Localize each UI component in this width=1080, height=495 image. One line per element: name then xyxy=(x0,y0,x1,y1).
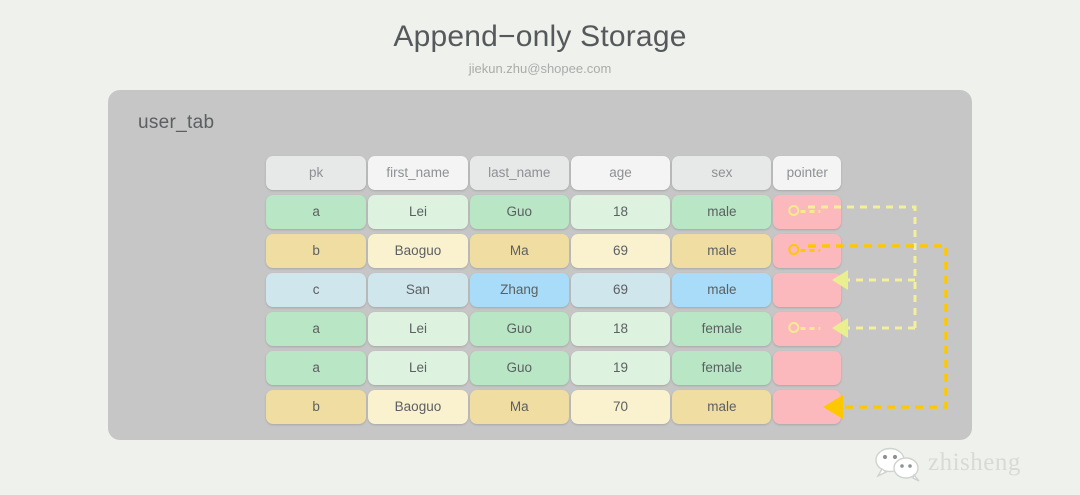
table-row[interactable]: a Lei Guo 18 female xyxy=(266,312,841,346)
cell-first-name: Lei xyxy=(368,312,467,346)
cell-sex: male xyxy=(672,195,771,229)
cell-age: 19 xyxy=(571,351,670,385)
table-header-row: pk first_name last_name age sex pointer xyxy=(266,156,841,190)
page-title: Append−only Storage xyxy=(0,20,1080,54)
cell-pointer[interactable] xyxy=(773,312,841,346)
cell-sex: male xyxy=(672,273,771,307)
cell-sex: female xyxy=(672,351,771,385)
column-header-last-name[interactable]: last_name xyxy=(470,156,569,190)
table-name-label: user_tab xyxy=(138,112,214,134)
cell-age: 69 xyxy=(571,273,670,307)
cell-first-name: Lei xyxy=(368,195,467,229)
cell-pk: a xyxy=(266,351,366,385)
cell-pointer[interactable] xyxy=(773,351,841,385)
cell-age: 70 xyxy=(571,390,670,424)
cell-pk: a xyxy=(266,195,366,229)
user-table: pk first_name last_name age sex pointer … xyxy=(266,156,841,429)
cell-sex: female xyxy=(672,312,771,346)
pointer-node-icon xyxy=(789,243,823,259)
cell-pointer[interactable] xyxy=(773,390,841,424)
cell-sex: male xyxy=(672,390,771,424)
table-row[interactable]: b Baoguo Ma 70 male xyxy=(266,390,841,424)
wechat-icon xyxy=(872,447,928,483)
column-header-first-name[interactable]: first_name xyxy=(368,156,467,190)
cell-last-name: Guo xyxy=(470,312,569,346)
cell-first-name: Lei xyxy=(368,351,467,385)
watermark-text: zhisheng xyxy=(928,449,1021,477)
pointer-node-icon xyxy=(789,204,823,220)
cell-pk: b xyxy=(266,390,366,424)
pointer-node-icon xyxy=(789,321,823,337)
cell-pointer[interactable] xyxy=(773,195,841,229)
cell-pk: a xyxy=(266,312,366,346)
column-header-pointer[interactable]: pointer xyxy=(773,156,841,190)
storage-panel: user_tab pk first_name last_name age sex… xyxy=(108,90,972,440)
cell-first-name: Baoguo xyxy=(368,390,467,424)
cell-pointer[interactable] xyxy=(773,273,841,307)
table-row[interactable]: a Lei Guo 19 female xyxy=(266,351,841,385)
cell-pk: c xyxy=(266,273,366,307)
column-header-age[interactable]: age xyxy=(571,156,670,190)
column-header-pk[interactable]: pk xyxy=(266,156,366,190)
table-row[interactable]: c San Zhang 69 male xyxy=(266,273,841,307)
cell-pointer[interactable] xyxy=(773,234,841,268)
cell-first-name: Baoguo xyxy=(368,234,467,268)
watermark: zhisheng xyxy=(866,445,1066,485)
column-header-sex[interactable]: sex xyxy=(672,156,771,190)
table-row[interactable]: a Lei Guo 18 male xyxy=(266,195,841,229)
cell-age: 69 xyxy=(571,234,670,268)
cell-first-name: San xyxy=(368,273,467,307)
cell-last-name: Guo xyxy=(470,351,569,385)
cell-age: 18 xyxy=(571,312,670,346)
cell-last-name: Ma xyxy=(470,234,569,268)
cell-last-name: Guo xyxy=(470,195,569,229)
table-row[interactable]: b Baoguo Ma 69 male xyxy=(266,234,841,268)
cell-sex: male xyxy=(672,234,771,268)
cell-pk: b xyxy=(266,234,366,268)
cell-age: 18 xyxy=(571,195,670,229)
page-subtitle: jiekun.zhu@shopee.com xyxy=(0,61,1080,76)
cell-last-name: Zhang xyxy=(470,273,569,307)
cell-last-name: Ma xyxy=(470,390,569,424)
